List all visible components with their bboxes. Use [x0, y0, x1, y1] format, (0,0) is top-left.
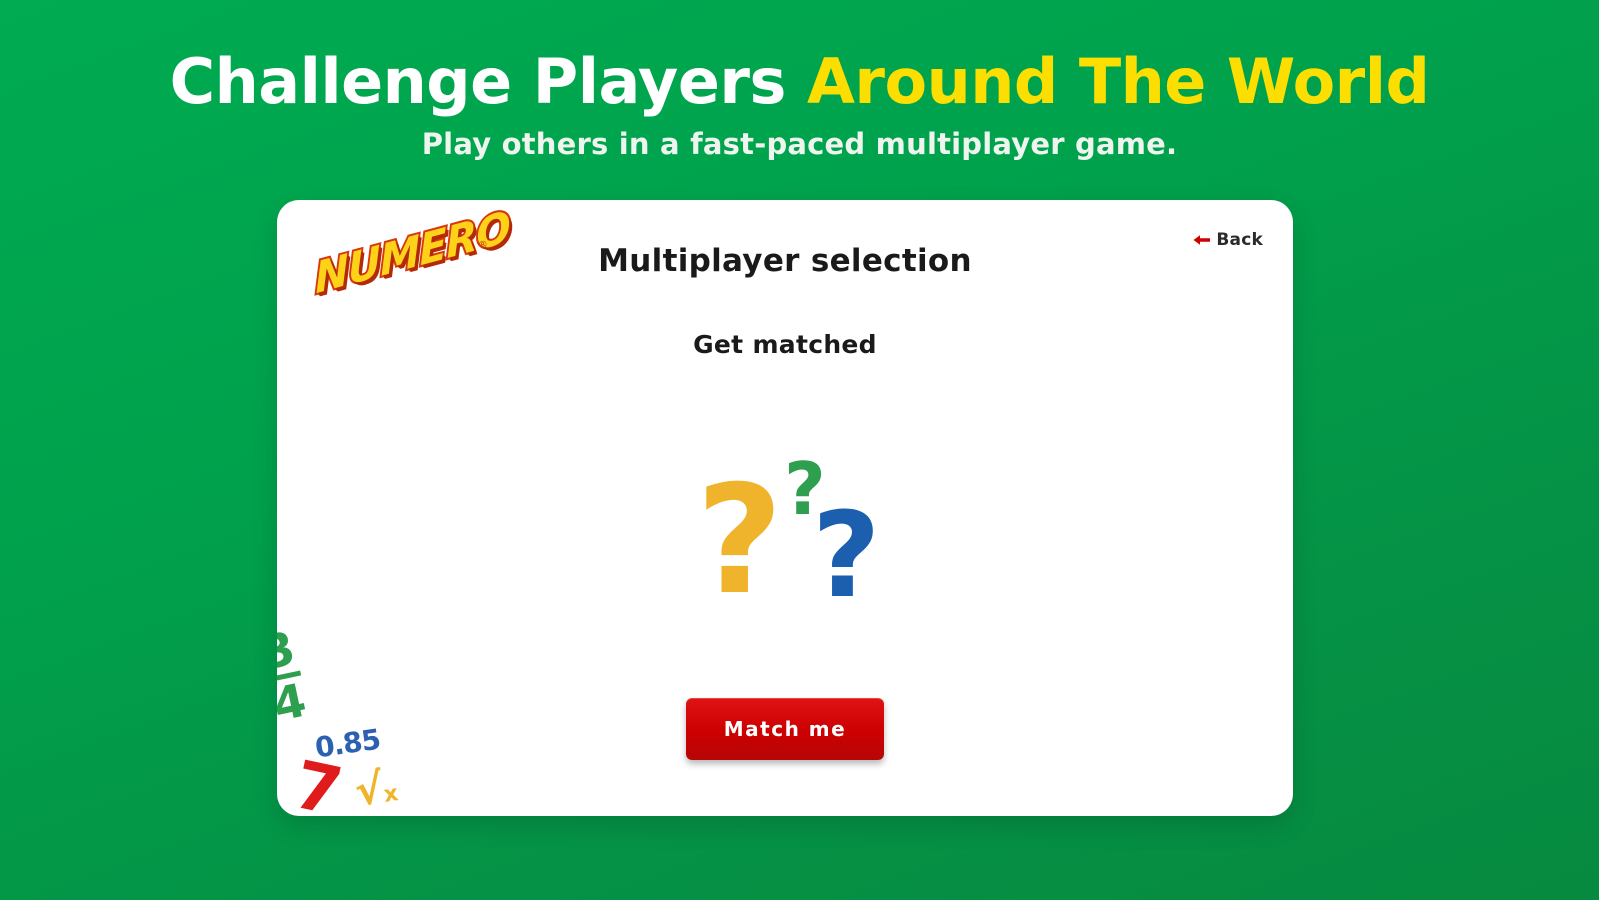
hero-section: Challenge Players Around The World Play … [0, 44, 1599, 162]
fraction-doodle: 3 4 [277, 625, 311, 729]
question-mark-yellow-icon: ? [696, 466, 783, 616]
page-subtitle: Play others in a fast-paced multiplayer … [0, 126, 1599, 162]
multiplayer-card: NUMERO ® Back Multiplayer selection Get … [277, 200, 1293, 816]
fraction-numerator: 3 [277, 625, 300, 677]
radical-symbol: √ [352, 763, 387, 815]
radical-variable: x [382, 781, 400, 808]
digit-seven-doodle: 7 [289, 752, 348, 816]
page-title-accent: Around The World [807, 45, 1429, 118]
page-title-primary: Challenge Players [170, 45, 807, 118]
card-subtitle: Get matched [277, 330, 1293, 359]
match-me-button[interactable]: Match me [686, 698, 884, 760]
question-mark-blue-icon: ? [812, 496, 880, 614]
square-root-doodle: √x [352, 765, 400, 812]
page-title: Challenge Players Around The World [0, 44, 1599, 120]
question-marks-illustration: ? ? ? [680, 448, 890, 608]
math-doodles: 3 4 0.85 7 √x [277, 616, 477, 816]
card-title: Multiplayer selection [277, 243, 1293, 279]
fraction-denominator: 4 [277, 676, 311, 728]
